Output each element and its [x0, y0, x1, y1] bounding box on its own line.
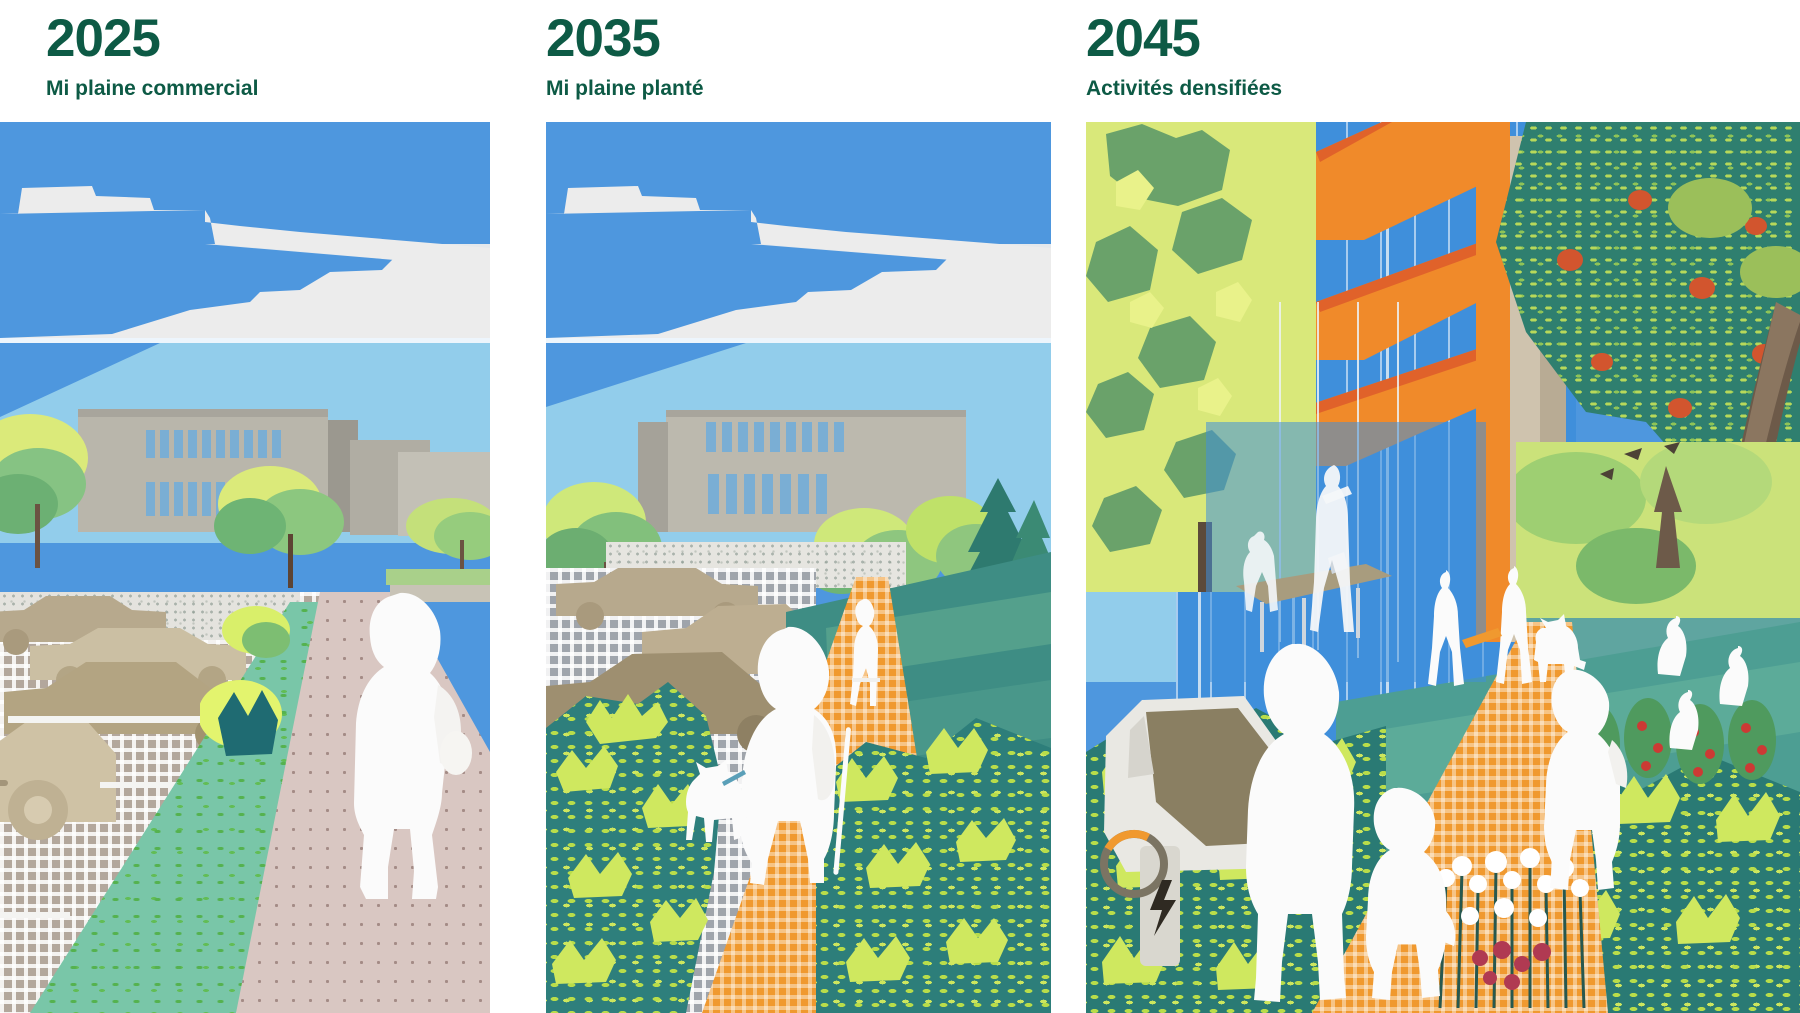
panel-2035-subtitle: Mi plaine planté [546, 77, 704, 101]
seated-people-2045 [1646, 582, 1800, 762]
panel-2045-header: 2045 Activités densifiées [1086, 12, 1282, 101]
panel-2045: 2045 Activités densifiées [1080, 0, 1800, 1013]
panel-2035: 2035 Mi plaine planté [540, 0, 1100, 1013]
shrub-cluster [200, 592, 330, 792]
panel-2035-header: 2035 Mi plaine planté [546, 12, 704, 101]
panel-2025-year: 2025 [46, 12, 258, 65]
child-silhouette-2045 [1354, 772, 1464, 1012]
panel-2035-year: 2035 [546, 12, 704, 65]
pedestrian-silhouette [330, 567, 490, 927]
cloud-shapes-2035 [546, 152, 1051, 352]
panel-2025-header: 2025 Mi plaine commercial [46, 12, 258, 101]
panel-2045-year: 2045 [1086, 12, 1282, 65]
panel-2045-illustration [1086, 122, 1800, 1013]
scenario-timeline-board: 2025 Mi plaine commercial [0, 0, 1800, 1013]
standing-person-mid-2045 [1526, 652, 1636, 902]
ev-charger-post-2045 [1092, 822, 1202, 1002]
panel-2025-illustration [0, 122, 490, 1013]
panel-2025: 2025 Mi plaine commercial [0, 0, 553, 1013]
panel-2025-subtitle: Mi plaine commercial [46, 77, 258, 101]
dog-silhouette-2035 [670, 752, 770, 862]
panel-2035-illustration [546, 122, 1051, 1013]
panel-2045-subtitle: Activités densifiées [1086, 77, 1282, 101]
cloud-shapes [0, 152, 490, 352]
